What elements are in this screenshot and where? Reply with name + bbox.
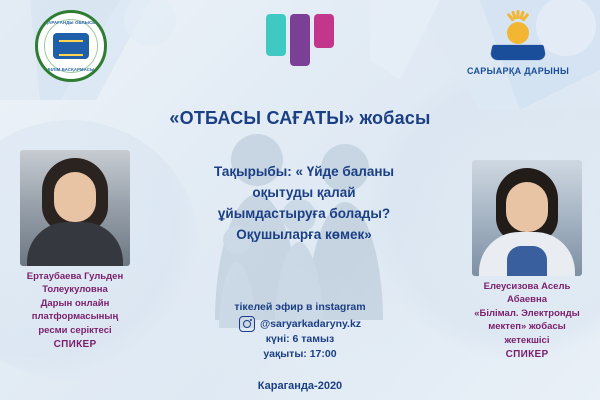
- speaker-left-name-line-2: Толеукуловна: [16, 284, 134, 297]
- subject-line-3: ұйымдастыруға болады?: [184, 204, 424, 225]
- speaker-left-body: [27, 222, 123, 266]
- speaker-right-photo: [472, 160, 582, 276]
- sun-icon: [507, 22, 529, 44]
- broadcast-live-label: тікелей эфир в instagram: [175, 300, 425, 315]
- speaker-left-tag: СПИКЕР: [16, 339, 134, 350]
- speaker-card-right: Елеусизова Асель Абаевна «Білімал. Элект…: [468, 160, 586, 360]
- poster-canvas: ҚАРАҒАНДЫ ОБЛЫСЫ БІЛІМ БАСҚАРМАСЫ САРЫАР…: [0, 0, 600, 400]
- speaker-right-name-line-1: Елеусизова Асель: [468, 281, 586, 294]
- speaker-left-role-line-1: Дарын онлайн: [16, 298, 134, 311]
- speaker-right-scarf: [507, 246, 547, 276]
- saryarka-daryny-logo: САРЫАРҚА ДАРЫНЫ: [458, 8, 578, 76]
- subject-line-1: Тақырыбы: « Үйде баланы: [184, 162, 424, 183]
- logo-left-crest-icon: [53, 33, 89, 59]
- card-magenta-icon: [314, 14, 334, 48]
- poster-headline: «ОТБАСЫ САҒАТЫ» жобасы: [0, 108, 600, 129]
- broadcast-date: күні: 6 тамыз: [175, 332, 425, 347]
- speaker-right-tag: СПИКЕР: [468, 349, 586, 360]
- subject-line-4: Оқушыларға көмек»: [184, 225, 424, 246]
- instagram-handle[interactable]: @saryarkadaryny.kz: [260, 318, 361, 330]
- logo-left-arc-top: ҚАРАҒАНДЫ ОБЛЫСЫ: [38, 20, 104, 25]
- broadcast-info: тікелей эфир в instagram @saryarkadaryny…: [175, 300, 425, 363]
- subject-line-2: оқытуды қалай: [184, 183, 424, 204]
- city-year-label: Караганда-2020: [0, 380, 600, 392]
- card-teal-icon: [266, 14, 286, 56]
- logo-left-badge: ҚАРАҒАНДЫ ОБЛЫСЫ БІЛІМ БАСҚАРМАСЫ: [35, 10, 107, 82]
- instagram-icon: [239, 316, 255, 332]
- speaker-right-role-line-3: жетекшісі: [468, 335, 586, 348]
- speaker-left-photo: [20, 150, 130, 266]
- center-card-logo: [266, 14, 334, 66]
- speaker-left-face: [54, 172, 96, 222]
- speaker-left-role-line-2: платформасының: [16, 311, 134, 324]
- instagram-handle-row[interactable]: @saryarkadaryny.kz: [175, 316, 425, 332]
- speaker-right-name-line-2: Абаевна: [468, 294, 586, 307]
- speaker-left-name-line-1: Ертаубаева Гульден: [16, 271, 134, 284]
- speaker-right-role-line-1: «Білімал. Электронды: [468, 308, 586, 321]
- card-purple-icon: [290, 14, 310, 66]
- saryarka-daryny-label: САРЫАРҚА ДАРЫНЫ: [458, 66, 578, 76]
- speaker-card-left: Ертаубаева Гульден Толеукуловна Дарын он…: [16, 150, 134, 350]
- karaganda-education-logo: ҚАРАҒАНДЫ ОБЛЫСЫ БІЛІМ БАСҚАРМАСЫ: [28, 10, 114, 82]
- book-icon: [489, 45, 547, 60]
- speaker-right-face: [506, 182, 548, 232]
- speaker-left-role-line-3: ресми серіктесі: [16, 325, 134, 338]
- book-sun-icon: [483, 8, 553, 64]
- speaker-right-role-line-2: мектеп» жобасы: [468, 321, 586, 334]
- broadcast-time: уақыты: 17:00: [175, 347, 425, 362]
- poster-subject: Тақырыбы: « Үйде баланы оқытуды қалай ұй…: [184, 162, 424, 246]
- logo-left-arc-bottom: БІЛІМ БАСҚАРМАСЫ: [38, 67, 104, 72]
